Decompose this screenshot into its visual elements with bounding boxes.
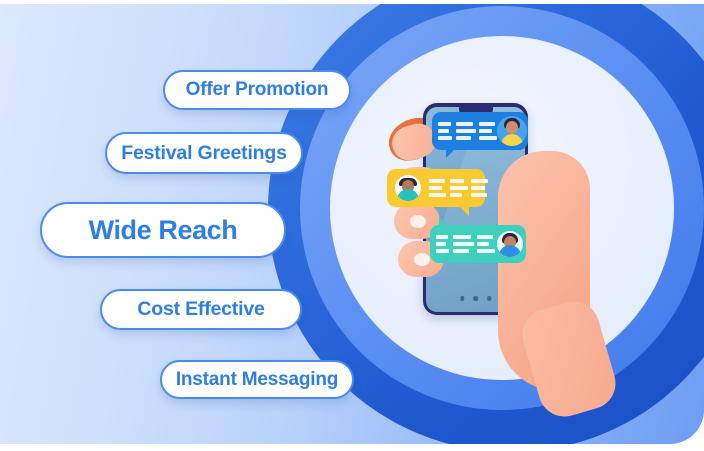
hand-holding-phone-illustration bbox=[380, 89, 600, 389]
feature-pill-label: Instant Messaging bbox=[176, 369, 338, 391]
chat-bubble-teal bbox=[430, 225, 526, 263]
home-dot bbox=[460, 296, 465, 301]
feature-pill-instant-messaging[interactable]: Instant Messaging bbox=[160, 360, 354, 399]
feature-pill-offer-promotion[interactable]: Offer Promotion bbox=[163, 70, 351, 110]
feature-pill-festival-greetings[interactable]: Festival Greetings bbox=[105, 132, 303, 174]
home-dot bbox=[487, 296, 492, 301]
home-indicator-dots bbox=[460, 296, 492, 301]
background-panel: Offer Promotion Festival Greetings Wide … bbox=[0, 4, 704, 444]
bubble-tail bbox=[439, 217, 448, 226]
man-hat-avatar bbox=[393, 173, 423, 203]
bubble-tail bbox=[459, 206, 469, 216]
message-text-lines bbox=[438, 122, 497, 140]
chat-bubble-blue bbox=[432, 112, 528, 150]
woman-avatar bbox=[497, 116, 527, 146]
feature-pill-label: Wide Reach bbox=[89, 215, 238, 246]
man-avatar bbox=[495, 229, 525, 259]
feature-pill-cost-effective[interactable]: Cost Effective bbox=[100, 289, 302, 330]
bubble-tail bbox=[446, 149, 455, 158]
home-dot bbox=[473, 296, 478, 301]
feature-pill-label: Offer Promotion bbox=[186, 79, 329, 101]
fingernail bbox=[410, 215, 426, 228]
feature-pill-label: Cost Effective bbox=[137, 298, 264, 321]
message-text-lines bbox=[429, 179, 488, 197]
chat-bubble-yellow bbox=[387, 169, 485, 207]
infographic-canvas: Offer Promotion Festival Greetings Wide … bbox=[0, 0, 704, 451]
feature-pill-wide-reach[interactable]: Wide Reach bbox=[40, 202, 286, 258]
feature-pill-label: Festival Greetings bbox=[121, 142, 286, 165]
fingernail bbox=[414, 253, 430, 266]
message-text-lines bbox=[436, 235, 495, 253]
